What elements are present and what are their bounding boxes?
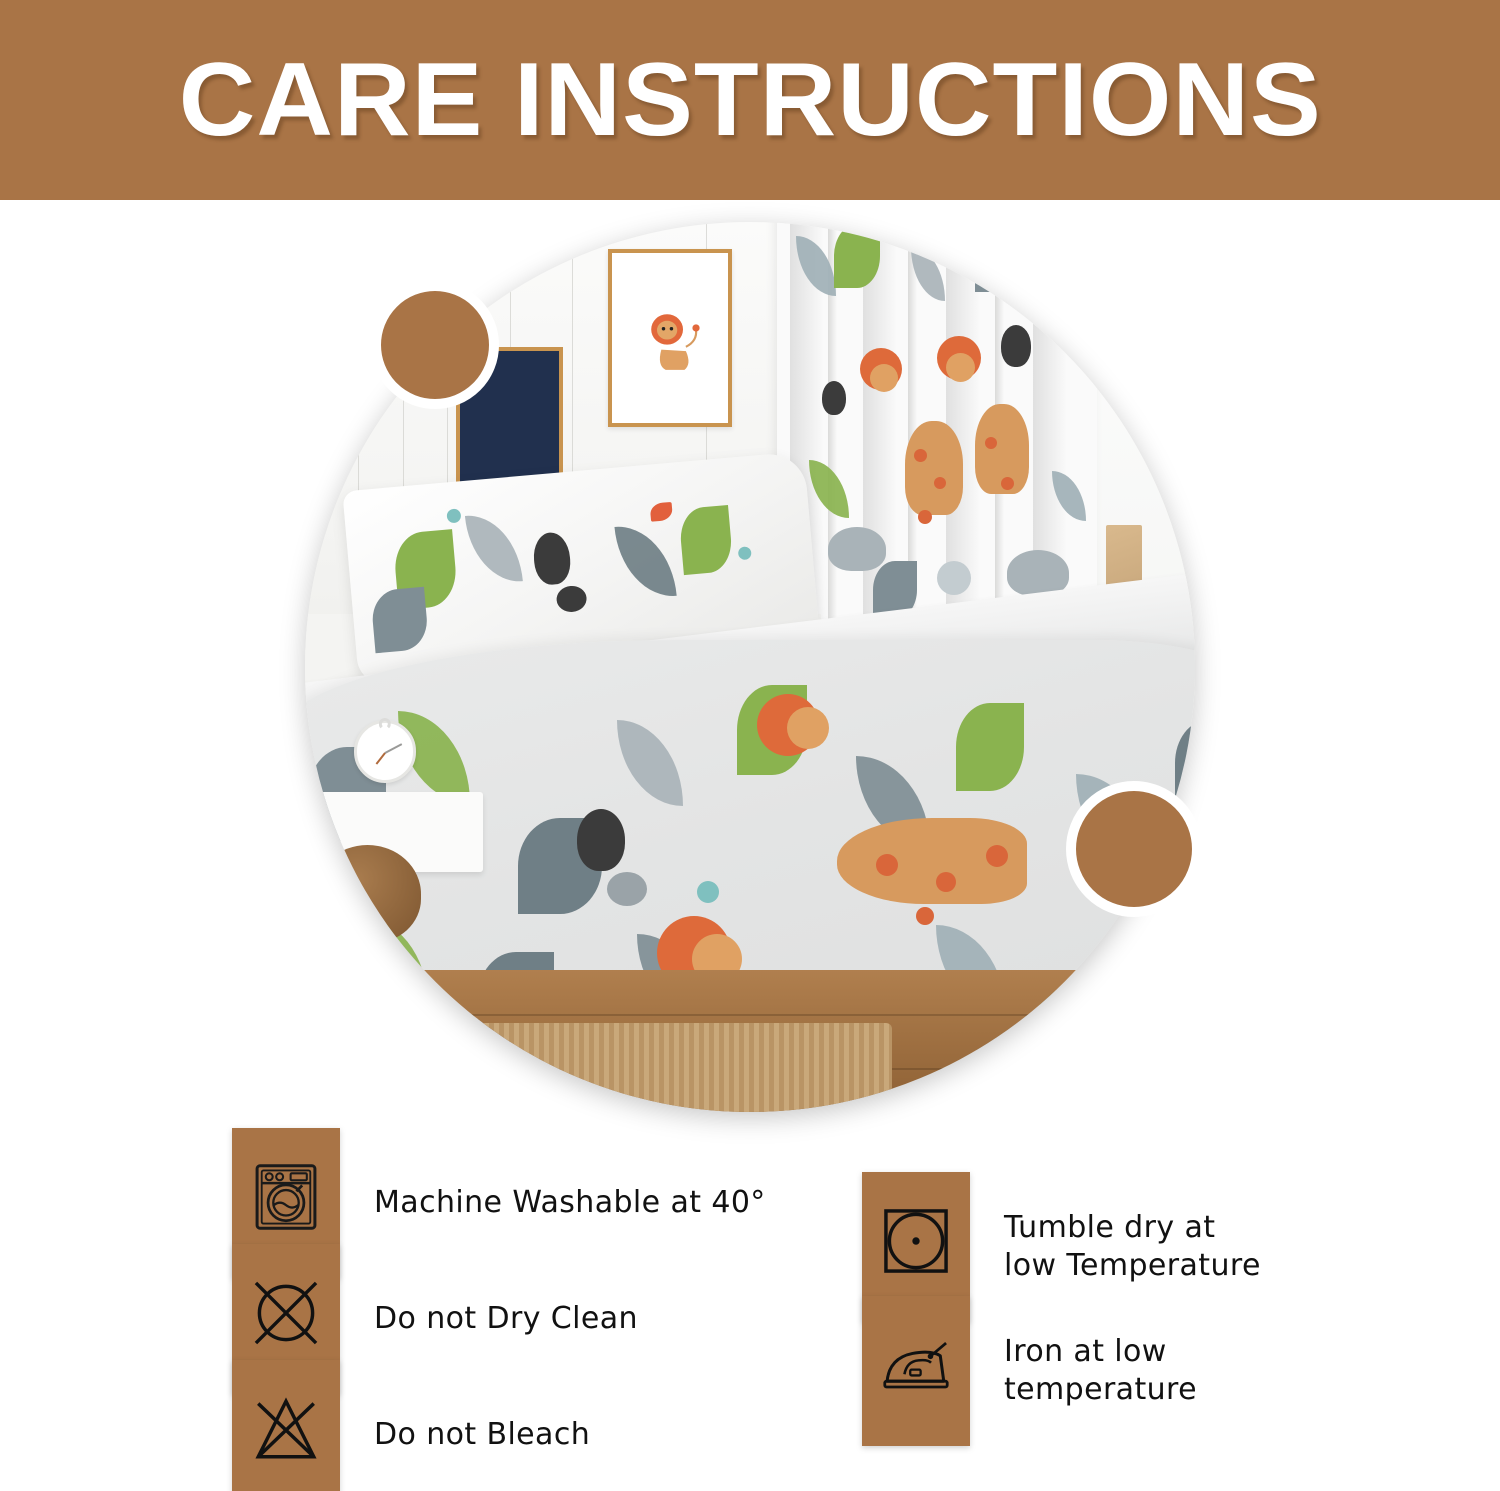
tumble-dry-low-icon (879, 1204, 953, 1278)
plush-toy (314, 845, 421, 943)
do-not-dry-clean-icon (249, 1276, 323, 1350)
woven-rug (394, 1023, 892, 1112)
lion-artwork-icon (634, 288, 706, 393)
care-label-iron: Iron at low temperature (1004, 1333, 1197, 1410)
care-badge-iron (862, 1296, 970, 1446)
do-not-bleach-icon (249, 1392, 323, 1466)
care-row-do-not-bleach: Do not Bleach (232, 1360, 590, 1491)
care-label-tumble-dry: Tumble dry at low Temperature (1004, 1209, 1261, 1286)
care-label-do-not-bleach: Do not Bleach (374, 1416, 590, 1454)
care-label-do-not-dry-clean: Do not Dry Clean (374, 1300, 638, 1338)
washing-machine-icon (249, 1160, 323, 1234)
alarm-clock-icon (354, 720, 416, 782)
iron-low-icon (879, 1328, 953, 1402)
care-badge-do-not-bleach (232, 1360, 340, 1491)
accent-circle-bottom-right (1066, 781, 1202, 917)
care-row-iron: Iron at low temperature (862, 1296, 1197, 1446)
page-title: CARE INSTRUCTIONS (178, 48, 1321, 152)
header-banner: CARE INSTRUCTIONS (0, 0, 1500, 200)
care-label-machine-wash: Machine Washable at 40° (374, 1184, 766, 1222)
accent-circle-top-left (371, 281, 499, 409)
wall-frame-lion-art (608, 249, 733, 427)
care-instructions-infographic: CARE INSTRUCTIONS (0, 0, 1500, 1491)
